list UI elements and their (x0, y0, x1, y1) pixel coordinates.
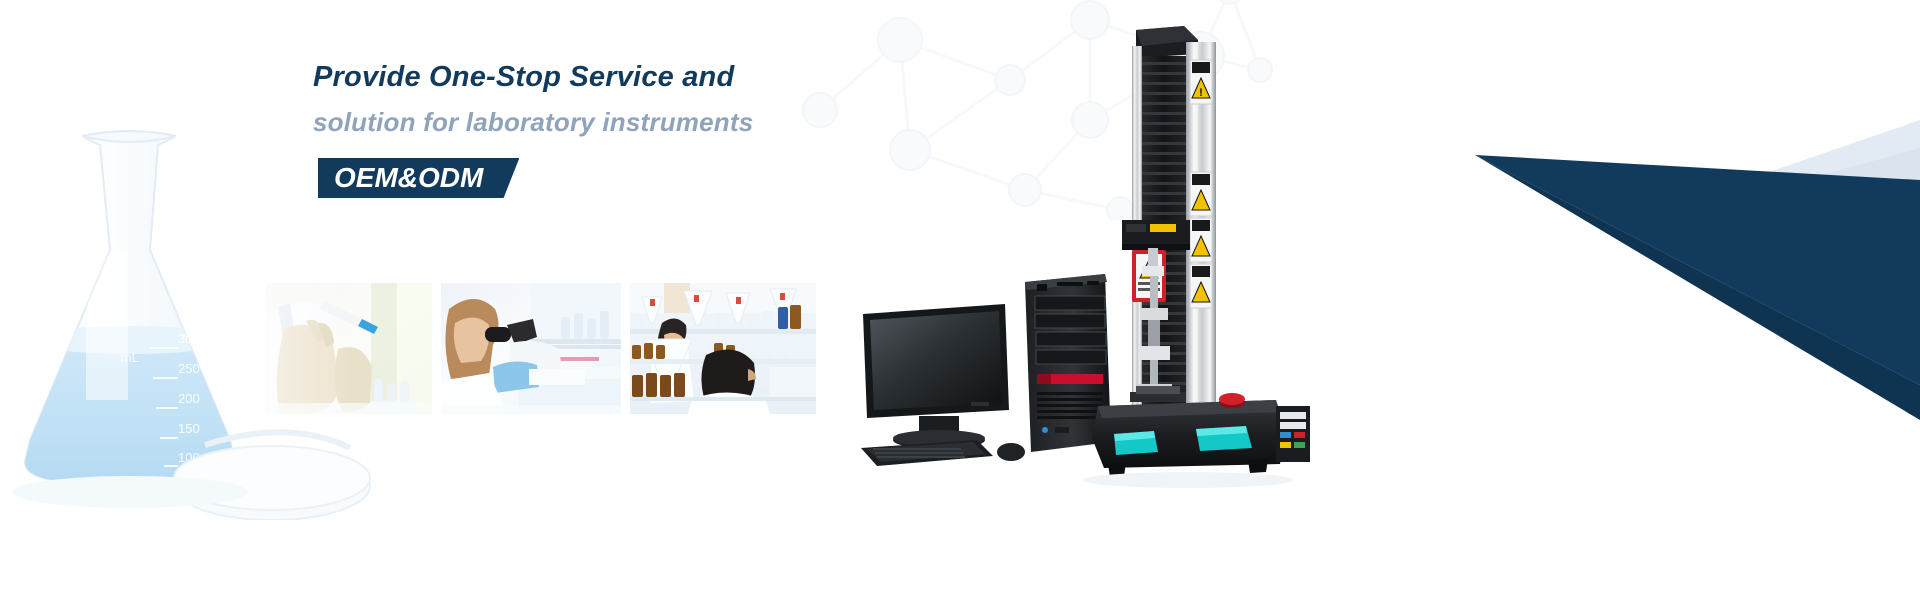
hero-banner: laboratory-instruments-oem-odm-hero-bann… (0, 0, 1920, 597)
graduation-200: 200 (178, 391, 200, 406)
oem-odm-badge: OEM&ODM (318, 158, 519, 198)
warning-glyph: ! (1199, 87, 1203, 99)
graduation-150: 150 (178, 421, 200, 436)
headline-block: Provide One-Stop Service and solution fo… (313, 56, 1073, 198)
warning-labels: ! (1190, 60, 1212, 308)
graduation-250: 250 (178, 361, 200, 376)
keyboard (861, 440, 993, 466)
mouse (997, 443, 1025, 461)
photo-pipetting-gloved-hands (266, 283, 432, 414)
photo-laboratory-team (630, 283, 816, 414)
banner-alt-text: laboratory-instruments-oem-odm-hero-bann… (0, 0, 1, 1)
graduation-unit: mL (120, 349, 140, 365)
monitor (863, 304, 1009, 449)
photo-strip (266, 283, 816, 414)
graduation-300: 300 (178, 331, 200, 346)
oem-odm-badge-label: OEM&ODM (318, 158, 519, 198)
photo-microscope-researcher (441, 283, 621, 414)
headline-line-1: Provide One-Stop Service and (313, 56, 1073, 98)
headline-line-2: solution for laboratory instruments (313, 98, 1073, 147)
crosshead (1122, 220, 1190, 250)
universal-testing-machine-image: ! (1080, 20, 1400, 490)
